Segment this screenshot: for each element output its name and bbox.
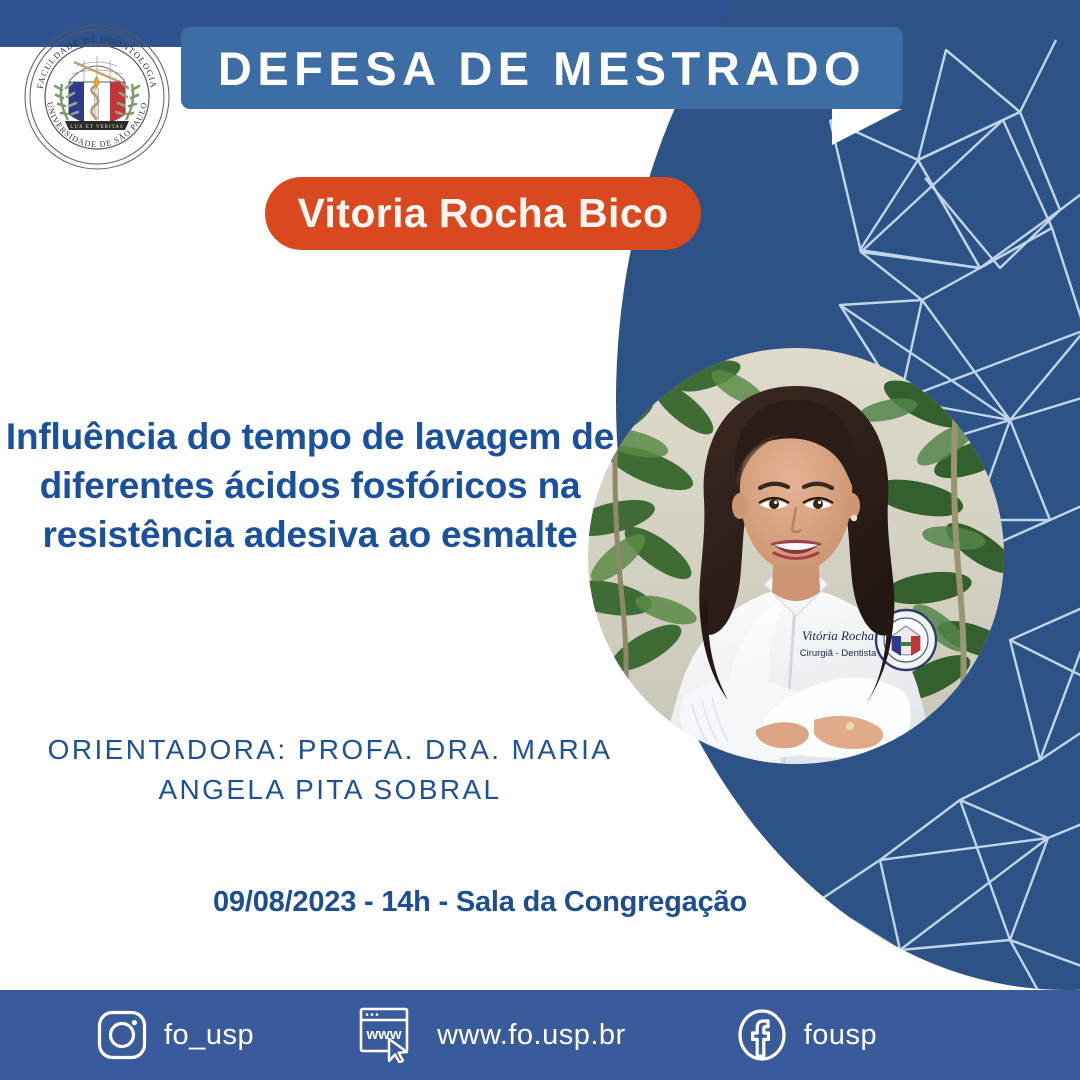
- instagram-icon: [96, 1009, 148, 1061]
- instagram-handle: fo_usp: [164, 1021, 254, 1050]
- svg-text:Cirurgiã - Dentista: Cirurgiã - Dentista: [800, 648, 877, 659]
- header-banner-label: DEFESA DE MESTRADO: [218, 45, 866, 92]
- advisor-line: ORIENTADORA: PROFA. DRA. MARIA ANGELA PI…: [0, 730, 660, 810]
- browser-www-icon: www: [359, 1007, 421, 1063]
- usp-fo-seal: FACULDADE DE ODONTOLOGIA UNIVERSIDADE DE…: [22, 22, 172, 172]
- header-banner-notch: [832, 109, 902, 145]
- svg-text:Vitória Rocha: Vitória Rocha: [802, 628, 875, 643]
- footer-bar: fo_usp www www.fo.usp.br fousp: [0, 990, 1080, 1080]
- website-url: www.fo.usp.br: [437, 1021, 626, 1050]
- facebook-handle: fousp: [804, 1021, 877, 1050]
- footer-item-website[interactable]: www www.fo.usp.br: [359, 1007, 626, 1063]
- footer-item-instagram[interactable]: fo_usp: [96, 1009, 254, 1061]
- svg-text:LUX ET VERITAS: LUX ET VERITAS: [70, 125, 123, 130]
- event-details: 09/08/2023 - 14h - Sala da Congregação: [0, 888, 960, 917]
- footer-item-facebook[interactable]: fousp: [736, 1009, 877, 1061]
- thesis-title: Influência do tempo de lavagem de difere…: [0, 412, 620, 560]
- speaker-name-label: Vitoria Rocha Bico: [298, 193, 669, 234]
- speaker-name-badge: Vitoria Rocha Bico: [265, 177, 701, 250]
- speaker-portrait: Vitória Rocha Cirurgiã - Dentista: [588, 348, 1004, 764]
- header-banner: DEFESA DE MESTRADO: [181, 27, 903, 109]
- facebook-icon: [736, 1009, 788, 1061]
- defense-announcement-poster: FACULDADE DE ODONTOLOGIA UNIVERSIDADE DE…: [0, 0, 1080, 1080]
- svg-text:www: www: [366, 1026, 402, 1043]
